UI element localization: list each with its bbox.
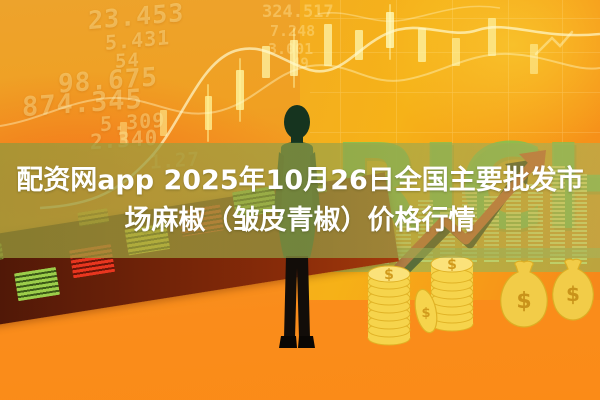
money-bag-icon: $: [496, 258, 552, 330]
svg-text:$: $: [421, 306, 430, 321]
svg-text:$: $: [516, 289, 531, 314]
ghost-number: 23.453: [88, 0, 184, 35]
coin-icon: $: [412, 288, 440, 334]
coin-stack-icon: $: [365, 258, 413, 350]
page-title: 配资网app 2025年10月26日全国主要批发市 场麻椒（皱皮青椒）价格行情: [0, 143, 600, 258]
svg-text:$: $: [384, 267, 394, 283]
thumbnail-image: 23.453 5.431 54 98.675 874.345 5.309 2.3…: [0, 0, 600, 400]
svg-text:$: $: [447, 257, 457, 273]
ghost-number: 5.431: [105, 25, 170, 55]
svg-text:$: $: [566, 282, 580, 306]
money-bag-icon: $: [548, 256, 598, 322]
title-line-2: 场麻椒（皱皮青椒）价格行情: [125, 201, 476, 241]
title-line-1: 配资网app 2025年10月26日全国主要批发市: [16, 161, 584, 201]
